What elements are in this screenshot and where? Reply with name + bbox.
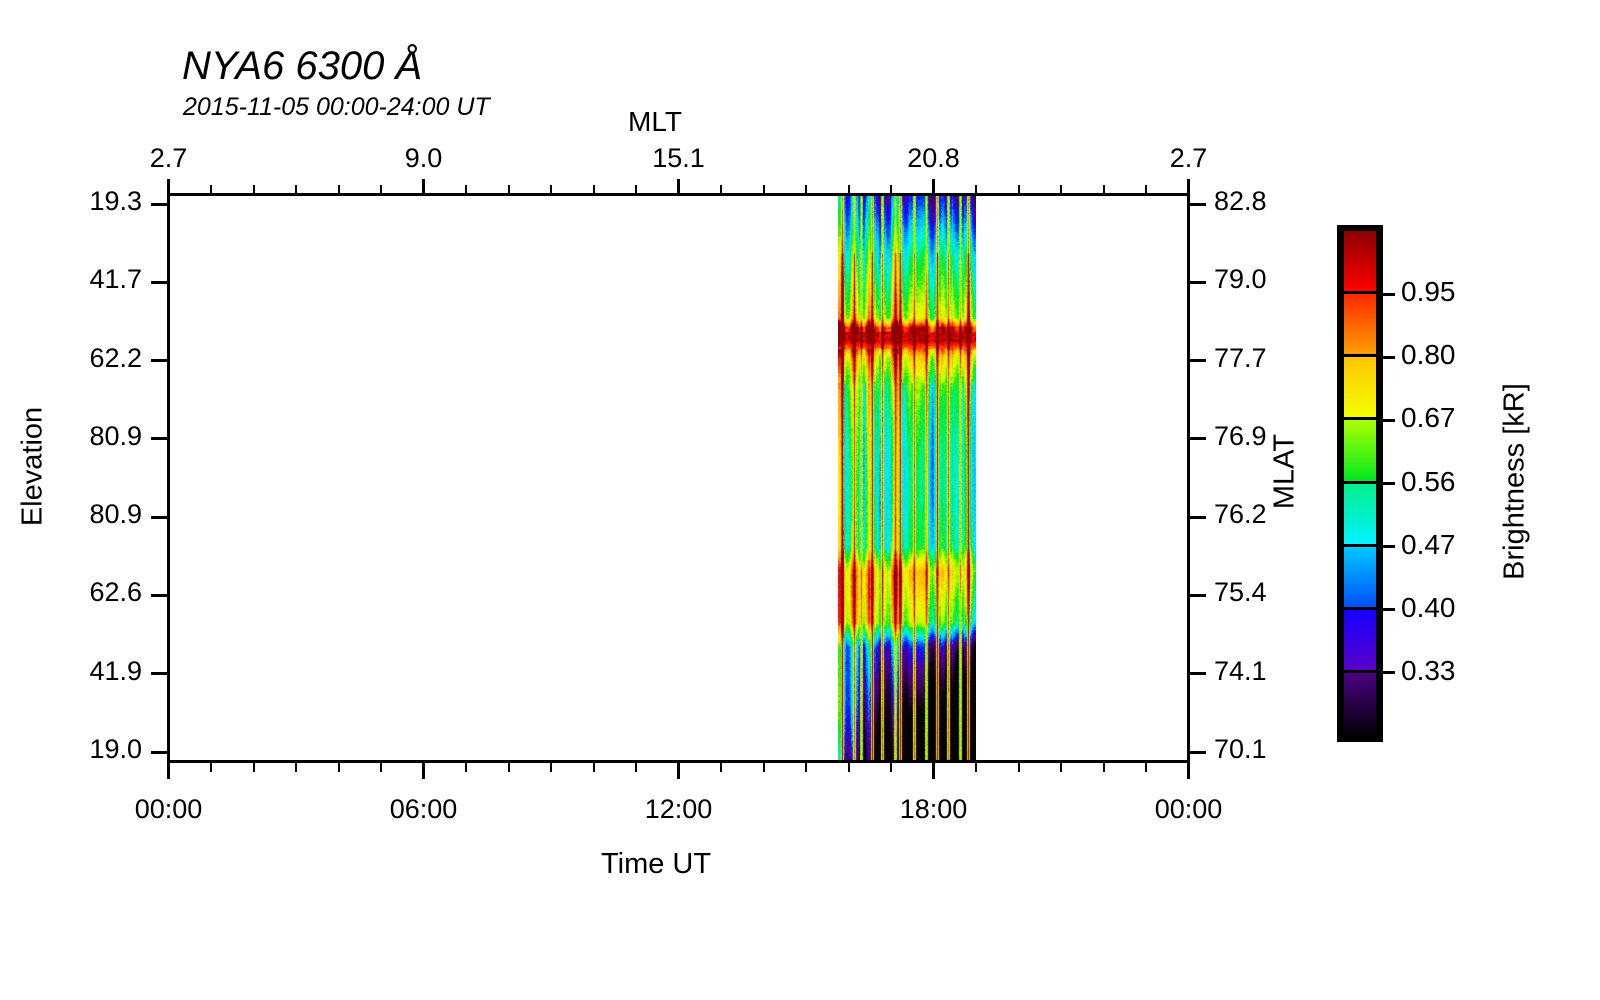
colorbar-gradient xyxy=(1344,231,1376,736)
tick-time-minor-23 xyxy=(1145,763,1147,772)
tick-mlat-4 xyxy=(1190,516,1206,519)
tick-mlt-minor-23 xyxy=(1145,185,1147,193)
tick-time-major-2 xyxy=(677,763,680,779)
tick-mlt-minor-9 xyxy=(550,185,552,193)
mlt-tick-label-2: 15.1 xyxy=(619,143,739,174)
tick-time-major-1 xyxy=(422,763,425,779)
tick-mlt-major-0 xyxy=(167,179,170,193)
tick-time-minor-13 xyxy=(720,763,722,772)
page-subtitle: 2015-11-05 00:00-24:00 UT xyxy=(183,93,490,122)
colorbar-tick-0 xyxy=(1383,293,1395,296)
colorbar-segment-4 xyxy=(1344,484,1376,547)
tick-time-minor-1 xyxy=(210,763,212,772)
tick-mlt-minor-22 xyxy=(1103,185,1105,193)
tick-time-major-4 xyxy=(1187,763,1190,779)
mlat-axis-title: MLAT xyxy=(1269,412,1302,532)
tick-time-minor-4 xyxy=(338,763,340,772)
mlt-axis-title: MLT xyxy=(628,106,682,138)
tick-elevation-0 xyxy=(151,203,167,206)
tick-time-minor-17 xyxy=(890,763,892,772)
tick-time-major-3 xyxy=(932,763,935,779)
colorbar-tick-label-1: 0.80 xyxy=(1401,339,1456,371)
colorbar-tick-1 xyxy=(1383,356,1395,359)
time-tick-label-1: 06:00 xyxy=(354,794,494,825)
tick-elevation-7 xyxy=(151,751,167,754)
tick-mlat-3 xyxy=(1190,437,1206,440)
colorbar-tick-label-6: 0.33 xyxy=(1401,655,1456,687)
elevation-tick-label-0: 19.3 xyxy=(0,186,142,217)
time-tick-label-3: 18:00 xyxy=(864,794,1004,825)
elevation-tick-label-7: 19.0 xyxy=(0,734,142,765)
tick-mlt-minor-11 xyxy=(635,185,637,193)
colorbar-title: Brightness [kR] xyxy=(1499,372,1532,592)
tick-elevation-5 xyxy=(151,594,167,597)
tick-mlt-minor-20 xyxy=(1018,185,1020,193)
tick-mlt-major-1 xyxy=(422,179,425,193)
colorbar-segment-0 xyxy=(1344,231,1376,294)
tick-time-minor-8 xyxy=(508,763,510,772)
page-title: NYA6 6300 Å xyxy=(182,44,422,89)
tick-time-minor-3 xyxy=(295,763,297,772)
mlt-tick-label-4: 2.7 xyxy=(1129,143,1249,174)
tick-elevation-1 xyxy=(151,281,167,284)
tick-mlt-minor-15 xyxy=(805,185,807,193)
mlt-tick-label-1: 9.0 xyxy=(364,143,484,174)
tick-mlt-minor-14 xyxy=(763,185,765,193)
tick-mlt-minor-17 xyxy=(890,185,892,193)
tick-mlt-minor-19 xyxy=(975,185,977,193)
tick-mlt-minor-13 xyxy=(720,185,722,193)
tick-time-minor-11 xyxy=(635,763,637,772)
tick-time-minor-16 xyxy=(848,763,850,772)
elevation-axis-title: Elevation xyxy=(17,407,50,527)
tick-mlt-minor-7 xyxy=(465,185,467,193)
tick-time-minor-22 xyxy=(1103,763,1105,772)
tick-mlat-7 xyxy=(1190,751,1206,754)
tick-time-minor-2 xyxy=(253,763,255,772)
elevation-tick-label-2: 62.2 xyxy=(0,343,142,374)
colorbar-tick-label-5: 0.40 xyxy=(1401,592,1456,624)
colorbar-segment-6 xyxy=(1344,610,1376,673)
tick-mlt-minor-3 xyxy=(295,185,297,193)
tick-mlt-minor-21 xyxy=(1060,185,1062,193)
colorbar-segment-2 xyxy=(1344,357,1376,420)
tick-mlat-6 xyxy=(1190,672,1206,675)
tick-time-minor-5 xyxy=(380,763,382,772)
tick-mlt-minor-4 xyxy=(338,185,340,193)
mlt-tick-label-3: 20.8 xyxy=(874,143,994,174)
tick-mlt-major-3 xyxy=(932,179,935,193)
mlat-tick-label-0: 82.8 xyxy=(1214,186,1374,217)
tick-time-minor-21 xyxy=(1060,763,1062,772)
tick-time-major-0 xyxy=(167,763,170,779)
tick-time-minor-10 xyxy=(593,763,595,772)
colorbar-segment-1 xyxy=(1344,294,1376,357)
colorbar-tick-label-2: 0.67 xyxy=(1401,402,1456,434)
time-tick-label-4: 00:00 xyxy=(1119,794,1259,825)
colorbar-tick-label-3: 0.56 xyxy=(1401,466,1456,498)
colorbar-segment-5 xyxy=(1344,547,1376,610)
mlt-tick-label-0: 2.7 xyxy=(109,143,229,174)
tick-mlat-2 xyxy=(1190,359,1206,362)
tick-mlat-0 xyxy=(1190,203,1206,206)
tick-time-minor-7 xyxy=(465,763,467,772)
tick-time-minor-14 xyxy=(763,763,765,772)
tick-mlt-minor-2 xyxy=(253,185,255,193)
tick-elevation-3 xyxy=(151,437,167,440)
tick-mlat-1 xyxy=(1190,281,1206,284)
tick-mlt-major-2 xyxy=(677,179,680,193)
colorbar-segment-3 xyxy=(1344,420,1376,483)
time-axis-title: Time UT xyxy=(601,848,711,881)
colorbar-tick-4 xyxy=(1383,545,1395,548)
tick-time-minor-19 xyxy=(975,763,977,772)
elevation-tick-label-5: 62.6 xyxy=(0,577,142,608)
tick-elevation-2 xyxy=(151,359,167,362)
tick-time-minor-9 xyxy=(550,763,552,772)
colorbar-tick-5 xyxy=(1383,608,1395,611)
colorbar-tick-6 xyxy=(1383,671,1395,674)
colorbar-tick-3 xyxy=(1383,482,1395,485)
colorbar-segment-7 xyxy=(1344,673,1376,736)
time-tick-label-0: 00:00 xyxy=(99,794,239,825)
colorbar-tick-label-4: 0.47 xyxy=(1401,529,1456,561)
tick-mlt-minor-10 xyxy=(593,185,595,193)
tick-elevation-6 xyxy=(151,672,167,675)
elevation-tick-label-6: 41.9 xyxy=(0,656,142,687)
colorbar xyxy=(1337,225,1383,742)
tick-mlt-major-4 xyxy=(1187,179,1190,193)
colorbar-tick-label-0: 0.95 xyxy=(1401,276,1456,308)
keogram-heatmap xyxy=(838,196,976,760)
time-tick-label-2: 12:00 xyxy=(609,794,749,825)
tick-mlt-minor-8 xyxy=(508,185,510,193)
colorbar-tick-2 xyxy=(1383,419,1395,422)
tick-time-minor-15 xyxy=(805,763,807,772)
tick-mlt-minor-5 xyxy=(380,185,382,193)
tick-elevation-4 xyxy=(151,516,167,519)
tick-mlt-minor-1 xyxy=(210,185,212,193)
tick-time-minor-20 xyxy=(1018,763,1020,772)
elevation-tick-label-1: 41.7 xyxy=(0,264,142,295)
tick-mlt-minor-16 xyxy=(848,185,850,193)
tick-mlat-5 xyxy=(1190,594,1206,597)
plot-frame xyxy=(167,193,1190,763)
